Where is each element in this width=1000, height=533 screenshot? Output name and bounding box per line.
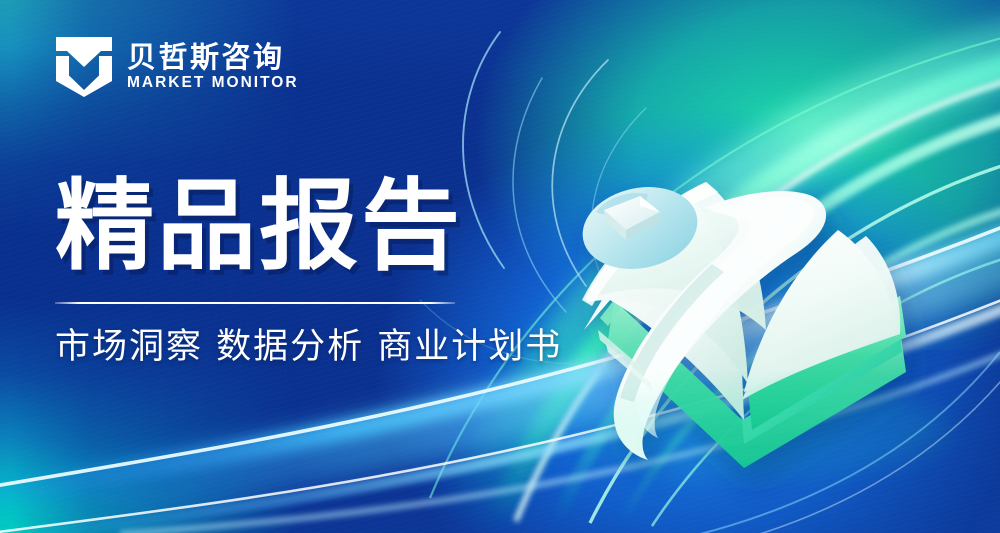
subtitle: 市场洞察 数据分析 商业计划书 [55,328,575,367]
brand-logo[interactable]: 贝哲斯咨询 MARKET MONITOR [55,36,299,98]
brand-name-en: MARKET MONITOR [127,75,299,91]
title-divider [55,302,455,304]
headline-block: 精品报告 市场洞察 数据分析 商业计划书 [55,175,575,366]
page-title: 精品报告 [55,175,575,280]
brand-name-cn: 贝哲斯咨询 [127,43,299,72]
report-banner: 贝哲斯咨询 MARKET MONITOR 精品报告 市场洞察 数据分析 商业计划… [0,0,1000,533]
market-monitor-m-logo-icon [55,36,113,98]
brand-logo-text: 贝哲斯咨询 MARKET MONITOR [127,43,299,91]
